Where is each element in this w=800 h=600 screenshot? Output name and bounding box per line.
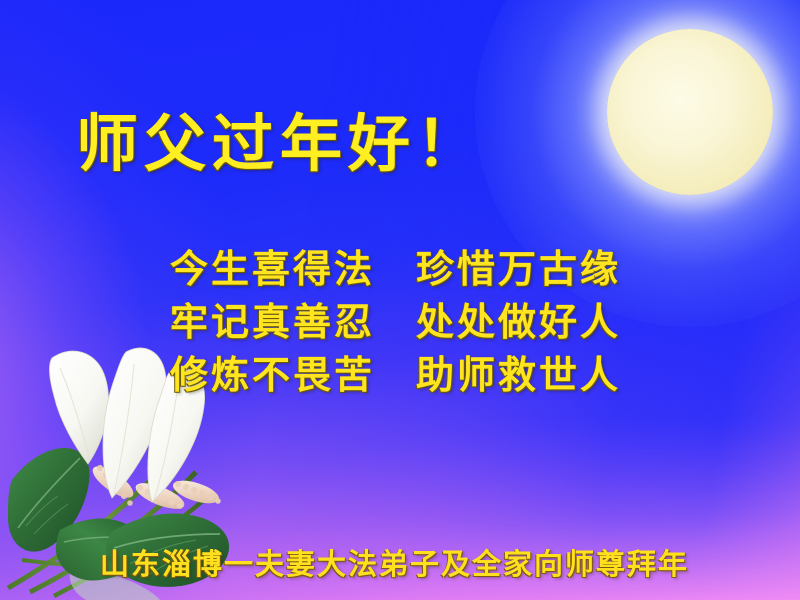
page-title: 师父过年好！ [76, 93, 484, 183]
full-moon-icon [607, 29, 773, 195]
signature-text: 山东淄博一夫妻大法弟子及全家向师尊拜年 [100, 541, 689, 583]
poem-line-1: 今生喜得法 珍惜万古缘 [170, 243, 621, 296]
poem-line-2: 牢记真善忍 处处做好人 [170, 296, 621, 349]
greeting-card: 师父过年好！ 今生喜得法 珍惜万古缘 牢记真善忍 处处做好人 修炼不畏苦 助师救… [0, 0, 800, 600]
poem-block: 今生喜得法 珍惜万古缘 牢记真善忍 处处做好人 修炼不畏苦 助师救世人 [170, 243, 621, 402]
poem-line-3: 修炼不畏苦 助师救世人 [170, 349, 621, 402]
